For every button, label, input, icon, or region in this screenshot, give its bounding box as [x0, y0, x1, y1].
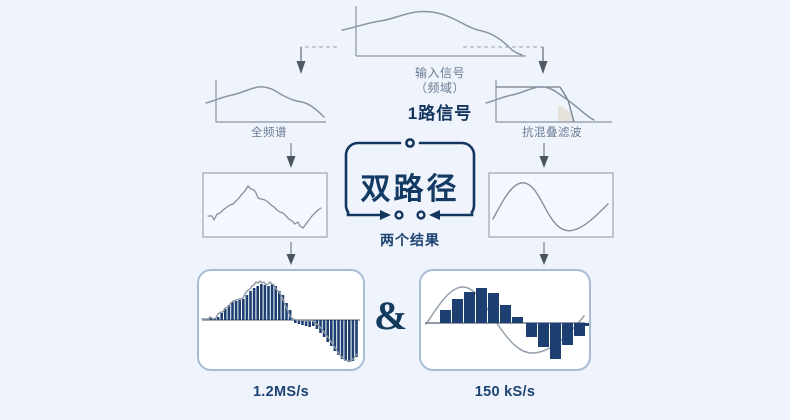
right-stage3-panel: [418, 268, 592, 372]
result-dot-left: [396, 212, 403, 219]
diagram-canvas: 输入信号 （频域） 1路信号 全频谱: [0, 0, 790, 420]
left-arrow-stage1-to-stage2: [281, 142, 301, 170]
right-arrow-head: [539, 61, 548, 74]
left-stage1-caption: 全频谱: [204, 126, 334, 141]
full-spectrum-svg: [204, 78, 334, 130]
arrow-head: [540, 156, 549, 168]
right-rate-label: 150 kS/s: [418, 384, 592, 400]
right-stage1-plot: [484, 78, 620, 130]
left-stage3-panel: [196, 268, 366, 372]
anti-alias-filter-svg: [484, 78, 620, 130]
bracket-right-arrow-head: [429, 210, 440, 220]
arrow-head: [287, 156, 296, 168]
bracket-top-dot: [406, 139, 413, 146]
left-stage1-plot: [204, 78, 334, 130]
left-stage2-frame: [203, 173, 327, 237]
bracket-right-arrow-stem: [438, 212, 472, 215]
two-results-subtitle: 两个结果: [342, 230, 478, 250]
dense-bar-waveform-svg: [196, 268, 366, 372]
bracket-left-arrow-head: [380, 210, 391, 220]
right-stage1-caption: 抗混叠滤波: [478, 126, 626, 141]
arrow-head: [287, 254, 296, 265]
jagged-spectrum-svg: [202, 172, 328, 238]
split-connector-svg: [180, 40, 620, 80]
left-arrow-head: [297, 61, 306, 74]
right-stage2-frame: [489, 173, 613, 237]
right-arrow-stage2-to-stage3: [534, 241, 554, 267]
ampersand-conjunction: &: [374, 296, 407, 336]
bracket-left-arrow-stem: [348, 212, 382, 215]
full-spectrum-curve: [206, 87, 324, 117]
right-arrow-stage1-to-stage2: [534, 142, 554, 170]
filtered-signal-curve: [486, 87, 594, 120]
coarse-bar-waveform-svg: [418, 268, 592, 372]
top-split-connectors: [180, 40, 620, 80]
left-rate-label: 1.2MS/s: [196, 384, 366, 400]
left-arrow-stage2-to-stage3: [281, 241, 301, 267]
sine-wave-svg: [488, 172, 614, 238]
left-stage2-plot: [202, 172, 328, 238]
dual-path-title: 双路径: [342, 164, 478, 208]
right-stage2-plot: [488, 172, 614, 238]
arrow-head: [540, 254, 549, 265]
result-dot-right: [418, 212, 425, 219]
